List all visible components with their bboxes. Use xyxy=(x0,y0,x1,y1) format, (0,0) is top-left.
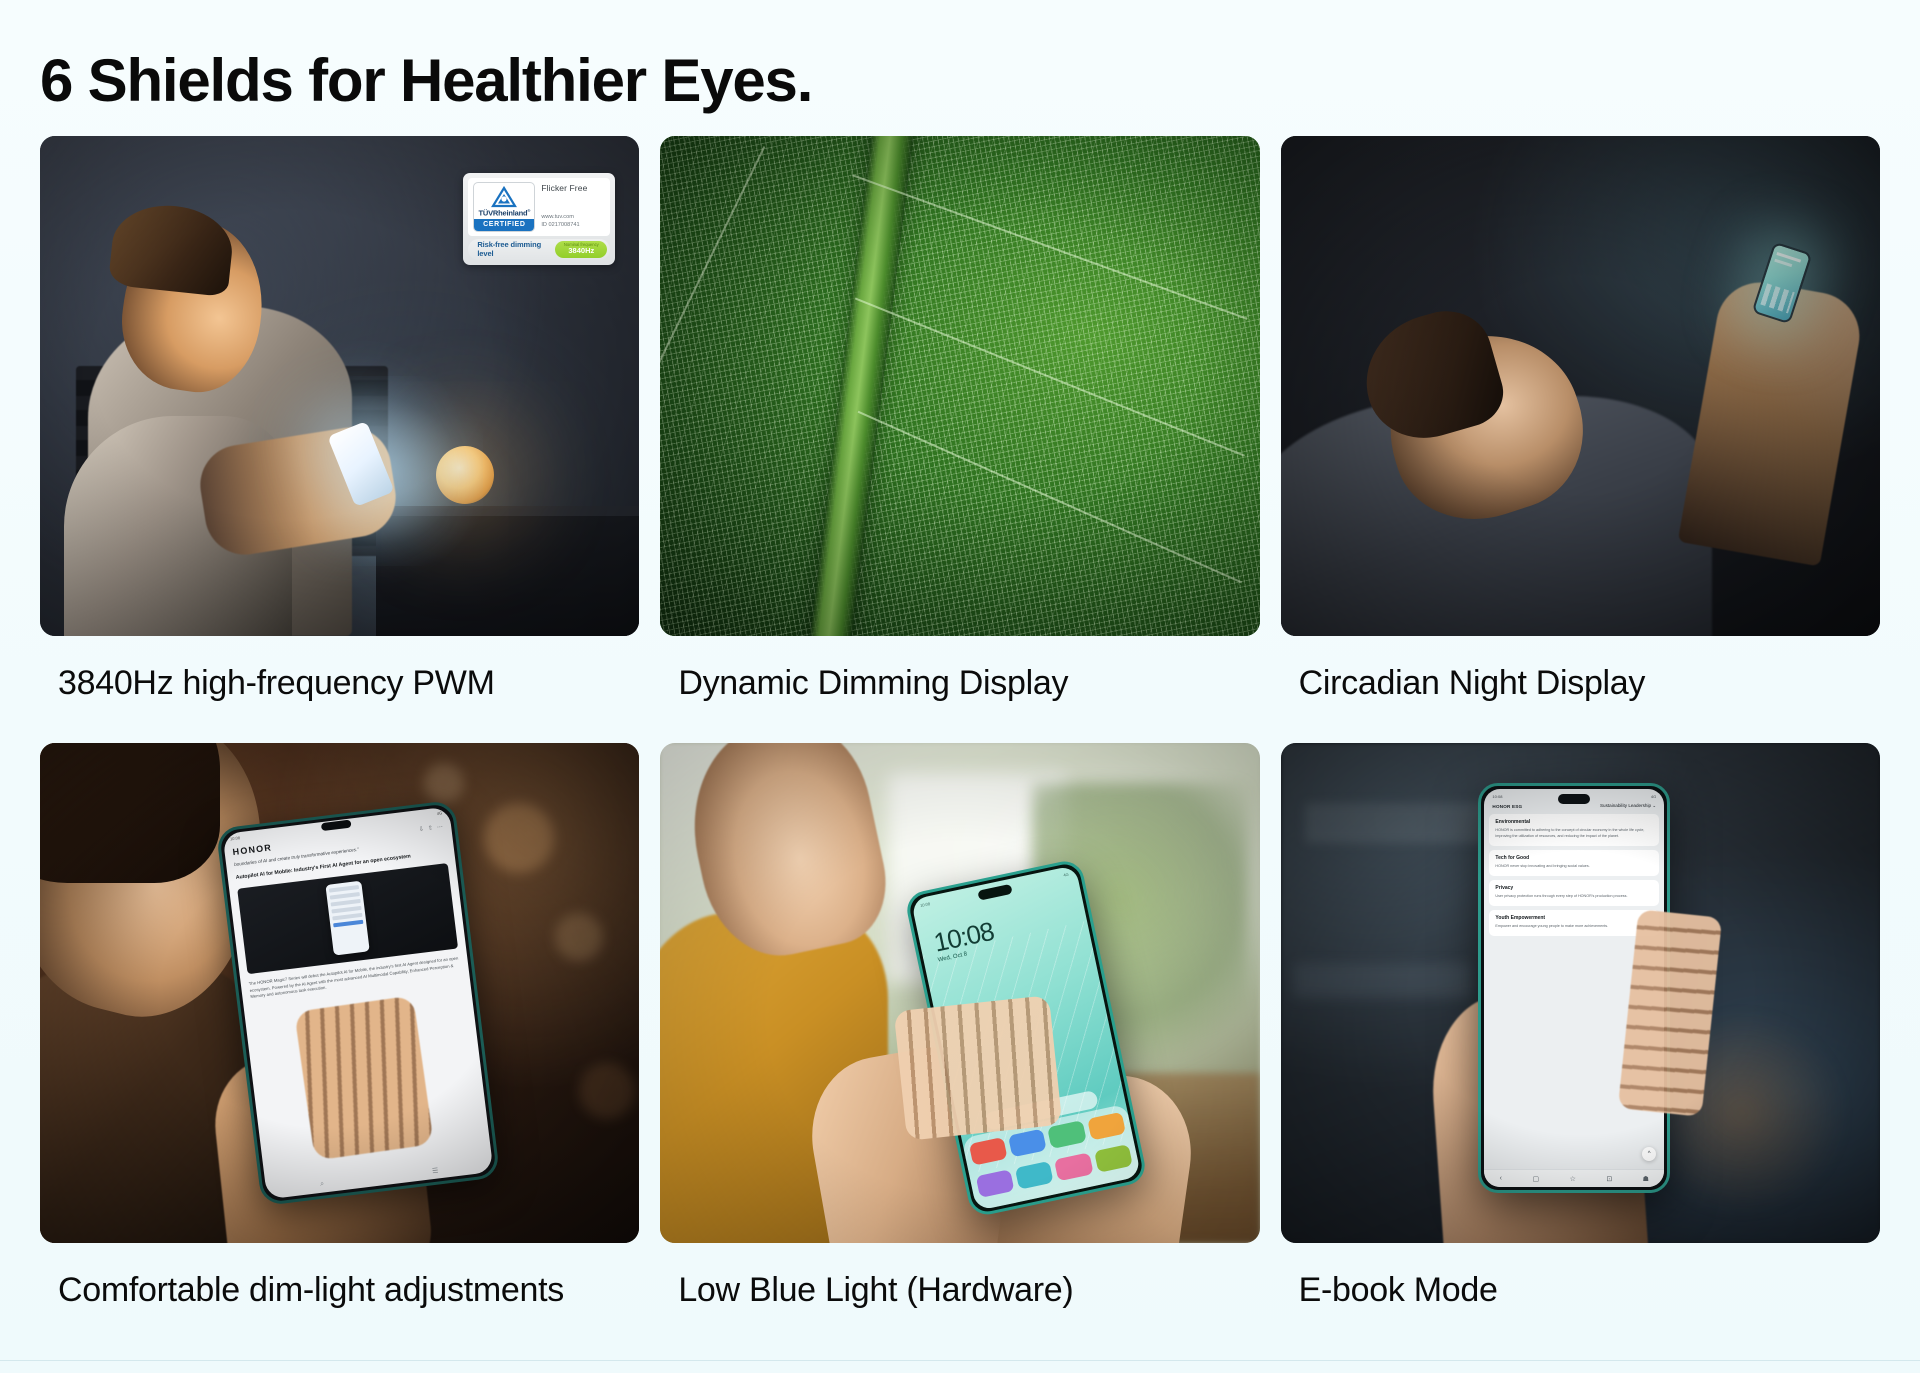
risk-free-dimming-bar: Risk-free dimming level Nominal frequenc… xyxy=(468,239,610,261)
feature-card-dimlight[interactable]: 10:08 4G HONOR ⇩ ⇧ ⋯ boundaries of AI an… xyxy=(40,743,639,1322)
feature-image-pwm: TÜVRheinland® CERTIFIED Flicker Free www… xyxy=(40,136,639,636)
tuv-rheinland-badge: TÜVRheinland® CERTIFIED Flicker Free www… xyxy=(463,173,615,265)
image-vignette xyxy=(660,136,1259,636)
image-vignette xyxy=(660,743,1259,1243)
tuv-id: ID 0217008741 xyxy=(541,221,605,229)
tuv-certified-label: CERTIFIED xyxy=(474,219,534,231)
feature-grid-row-2: 10:08 4G HONOR ⇩ ⇧ ⋯ boundaries of AI an… xyxy=(40,743,1880,1322)
caption-circadian: Circadian Night Display xyxy=(1281,636,1880,743)
page-title: 6 Shields for Healthier Eyes. xyxy=(40,0,1880,136)
feature-image-dimlight: 10:08 4G HONOR ⇩ ⇧ ⋯ boundaries of AI an… xyxy=(40,743,639,1243)
tuv-logo-block: TÜVRheinland® CERTIFIED xyxy=(473,182,535,232)
feature-image-dimming xyxy=(660,136,1259,636)
caption-ebook: E-book Mode xyxy=(1281,1243,1880,1322)
image-vignette xyxy=(40,743,639,1243)
tuv-badge-top: TÜVRheinland® CERTIFIED Flicker Free www… xyxy=(468,178,610,236)
phone-notch xyxy=(1558,794,1590,804)
caption-bluelight: Low Blue Light (Hardware) xyxy=(660,1243,1259,1322)
caption-pwm: 3840Hz high-frequency PWM xyxy=(40,636,639,743)
feature-image-bluelight: 10:08 4G 10:08 Wed, Oct 8 xyxy=(660,743,1259,1243)
feature-card-ebook[interactable]: 10:08 4G HONOR ESG Sustainability Leader… xyxy=(1281,743,1880,1322)
registered-mark: ® xyxy=(527,208,530,213)
footer-divider xyxy=(0,1360,1920,1361)
feature-image-ebook: 10:08 4G HONOR ESG Sustainability Leader… xyxy=(1281,743,1880,1243)
flicker-free-label: Flicker Free xyxy=(541,183,605,193)
caption-dimlight: Comfortable dim-light adjustments xyxy=(40,1243,639,1322)
image-vignette xyxy=(1281,743,1880,1243)
tuv-badge-right: Flicker Free www.tuv.com ID 0217008741 xyxy=(541,182,605,232)
feature-card-circadian[interactable]: Circadian Night Display xyxy=(1281,136,1880,743)
feature-card-bluelight[interactable]: 10:08 4G 10:08 Wed, Oct 8 xyxy=(660,743,1259,1322)
tuv-brand-text: TÜVRheinland® xyxy=(479,209,531,217)
caption-dimming: Dynamic Dimming Display xyxy=(660,636,1259,743)
image-vignette xyxy=(1281,136,1880,636)
eye-comfort-feature-page: 6 Shields for Healthier Eyes. xyxy=(0,0,1920,1373)
feature-grid-row-1: TÜVRheinland® CERTIFIED Flicker Free www… xyxy=(40,136,1880,743)
tuv-website: www.tuv.com xyxy=(541,213,605,221)
risk-free-dimming-label: Risk-free dimming level xyxy=(477,240,555,258)
tuv-meta: www.tuv.com ID 0217008741 xyxy=(541,213,605,229)
feature-card-pwm[interactable]: TÜVRheinland® CERTIFIED Flicker Free www… xyxy=(40,136,639,743)
tuv-triangle-icon xyxy=(491,186,517,208)
feature-image-circadian xyxy=(1281,136,1880,636)
dimming-frequency-pill: Nominal frequency 3840Hz xyxy=(555,241,607,258)
feature-card-dimming[interactable]: Dynamic Dimming Display xyxy=(660,136,1259,743)
pill-value: 3840Hz xyxy=(562,247,600,256)
